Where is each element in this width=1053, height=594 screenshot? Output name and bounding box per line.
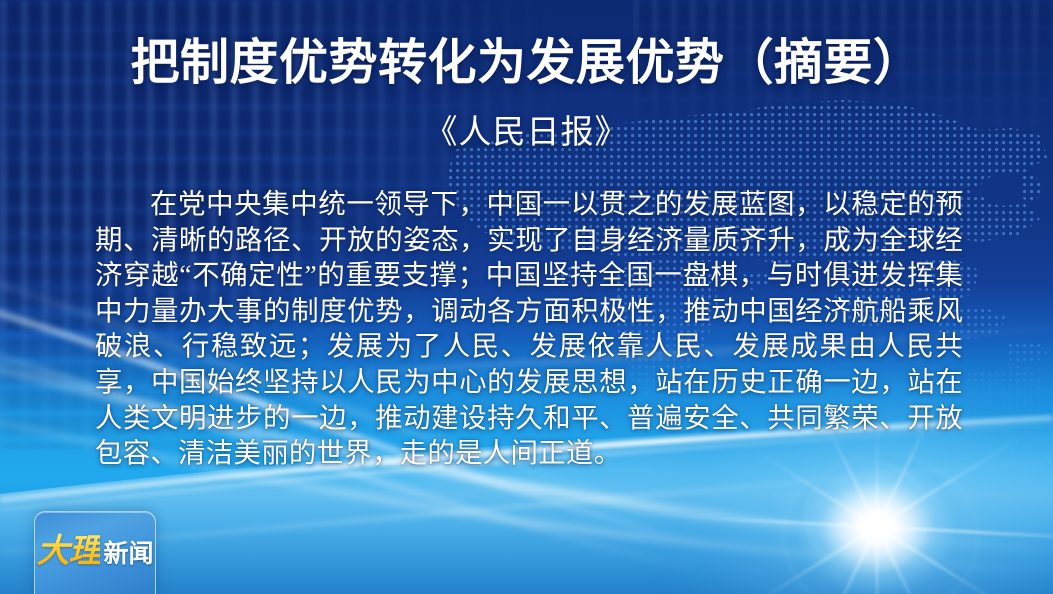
channel-logo-primary-text: 大理 (36, 524, 100, 572)
channel-logo-badge: 大理 新闻 (34, 511, 156, 594)
page-title: 把制度优势转化为发展优势（摘要） (0, 36, 1053, 91)
news-slide: 把制度优势转化为发展优势（摘要） 《人民日报》 在党中央集中统一领导下，中国一以… (0, 0, 1053, 594)
channel-logo-secondary-text: 新闻 (103, 534, 153, 570)
source-subtitle: 《人民日报》 (0, 114, 1053, 154)
article-body: 在党中央集中统一领导下，中国一以贯之的发展蓝图，以稳定的预期、清晰的路径、开放的… (95, 186, 963, 471)
channel-logo-inner: 大理 新闻 (36, 524, 153, 572)
